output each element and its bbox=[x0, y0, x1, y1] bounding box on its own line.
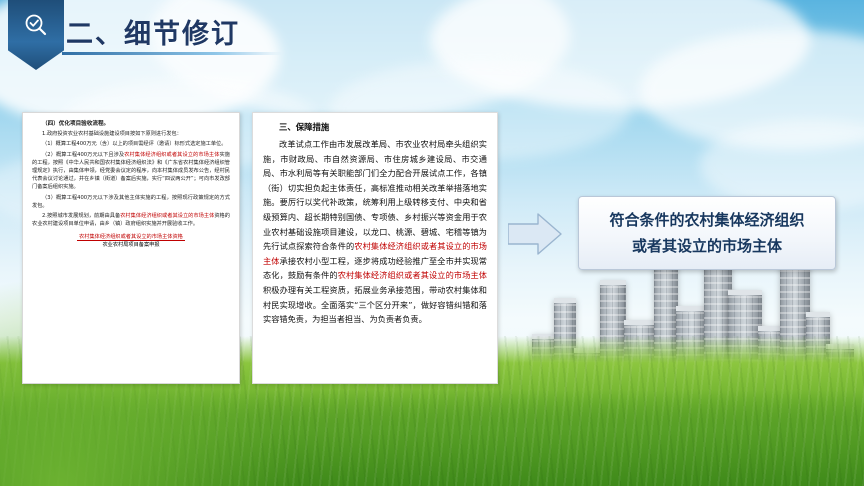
slide: 二、细节修订 （四）优化项目验收流程。 1.政府投资农业农村基础设施建设项目按如… bbox=[0, 0, 864, 486]
arrow-right-icon bbox=[508, 212, 562, 256]
doc-line: （1）概算工程400万元（含）以上的项目需经评（邀请）标形式选定施工单位。 bbox=[32, 140, 230, 148]
callout-line-1: 符合条件的农村集体经济组织 bbox=[609, 211, 804, 229]
doc-signature-block: 农村集体经济组织或者其设立的市场主体资格 农业农村局项目备案申报 bbox=[32, 233, 230, 248]
title-underline bbox=[62, 52, 282, 55]
doc-signature-link: 农村集体经济组织或者其设立的市场主体资格 bbox=[77, 233, 185, 241]
magnifier-check-icon bbox=[23, 12, 49, 38]
doc-line: 2.按照城市发展规划，前期由具备农村集体经济组织或者其设立的市场主体资格的农业农… bbox=[32, 212, 230, 228]
doc-signature: 农业农村局项目备案申报 bbox=[32, 241, 230, 248]
document-card: （四）优化项目验收流程。 1.政府投资农业农村基础设施建设项目按如下原则进行发包… bbox=[22, 112, 240, 384]
measures-heading: 三、保障措施 bbox=[263, 121, 487, 133]
callout-line-2: 或者其设立的市场主体 bbox=[632, 237, 782, 255]
doc-line: （四）优化项目验收流程。 bbox=[32, 120, 230, 128]
measures-card: 三、保障措施 改革试点工作由市发展改革局、市农业农村局牵头组织实施，市财政局、市… bbox=[252, 112, 498, 384]
measures-paragraph: 改革试点工作由市发展改革局、市农业农村局牵头组织实施，市财政局、市自然资源局、市… bbox=[263, 137, 487, 327]
page-title: 二、细节修订 bbox=[66, 12, 240, 51]
doc-line-highlighted: （2）概算工程400万元以下且涉及农村集体经济组织或者其设立的市场主体实施的工程… bbox=[32, 151, 230, 192]
doc-line: 1.政府投资农业农村基础设施建设项目按如下原则进行发包： bbox=[32, 130, 230, 138]
callout-text: 符合条件的农村集体经济组织 或者其设立的市场主体 bbox=[609, 207, 804, 259]
doc-line: （3）概算工程400万元以下涉及其他主体实施的工程，按照现行政策规定的方式发包。 bbox=[32, 194, 230, 210]
callout-box: 符合条件的农村集体经济组织 或者其设立的市场主体 bbox=[578, 196, 836, 270]
